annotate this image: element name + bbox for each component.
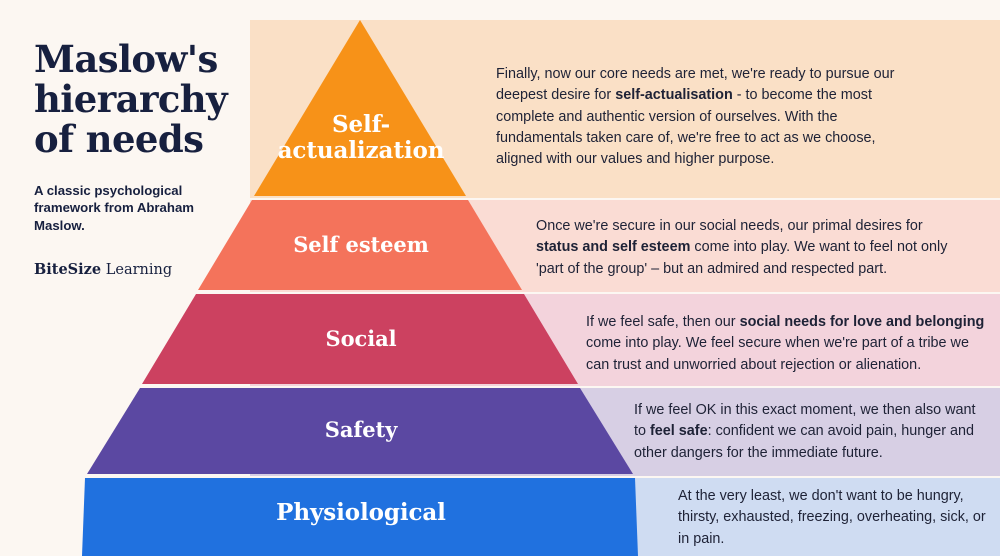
page-title: Maslow's hierarchy of needs [34, 40, 244, 160]
description-physiological: At the very least, we don't want to be h… [678, 486, 990, 550]
description-social: If we feel safe, then our social needs f… [586, 312, 990, 376]
tier-shape-esteem[interactable] [198, 200, 522, 290]
infographic-canvas: Self- actualization Self esteem Social S… [0, 0, 1000, 556]
description-safety-bold: feel safe [650, 423, 708, 439]
description-social-pre: If we feel safe, then our [586, 314, 740, 330]
brand-name-strong: BiteSize [34, 261, 101, 278]
tier-shape-physiological[interactable] [82, 478, 638, 556]
description-esteem: Once we're secure in our social needs, o… [536, 216, 956, 280]
tier-shape-actualization[interactable] [254, 20, 466, 196]
description-safety: If we feel OK in this exact moment, we t… [634, 400, 980, 464]
description-esteem-bold: status and self esteem [536, 239, 690, 255]
description-social-post: come into play. We feel secure when we'r… [586, 335, 969, 372]
description-actualization: Finally, now our core needs are met, we'… [496, 64, 902, 171]
tier-shape-safety[interactable] [87, 388, 633, 474]
header-block: Maslow's hierarchy of needs A classic ps… [34, 40, 244, 278]
brand-name-light: Learning [101, 262, 172, 278]
description-social-bold: social needs for love and belonging [740, 314, 985, 330]
subtitle: A classic psychological framework from A… [34, 182, 244, 235]
description-physiological-pre: At the very least, we don't want to be h… [678, 488, 986, 547]
tier-shape-social[interactable] [142, 294, 578, 384]
description-actualization-bold: self-actualisation [615, 87, 733, 103]
description-esteem-pre: Once we're secure in our social needs, o… [536, 218, 923, 234]
brand-logo: BiteSize Learning [34, 261, 244, 278]
